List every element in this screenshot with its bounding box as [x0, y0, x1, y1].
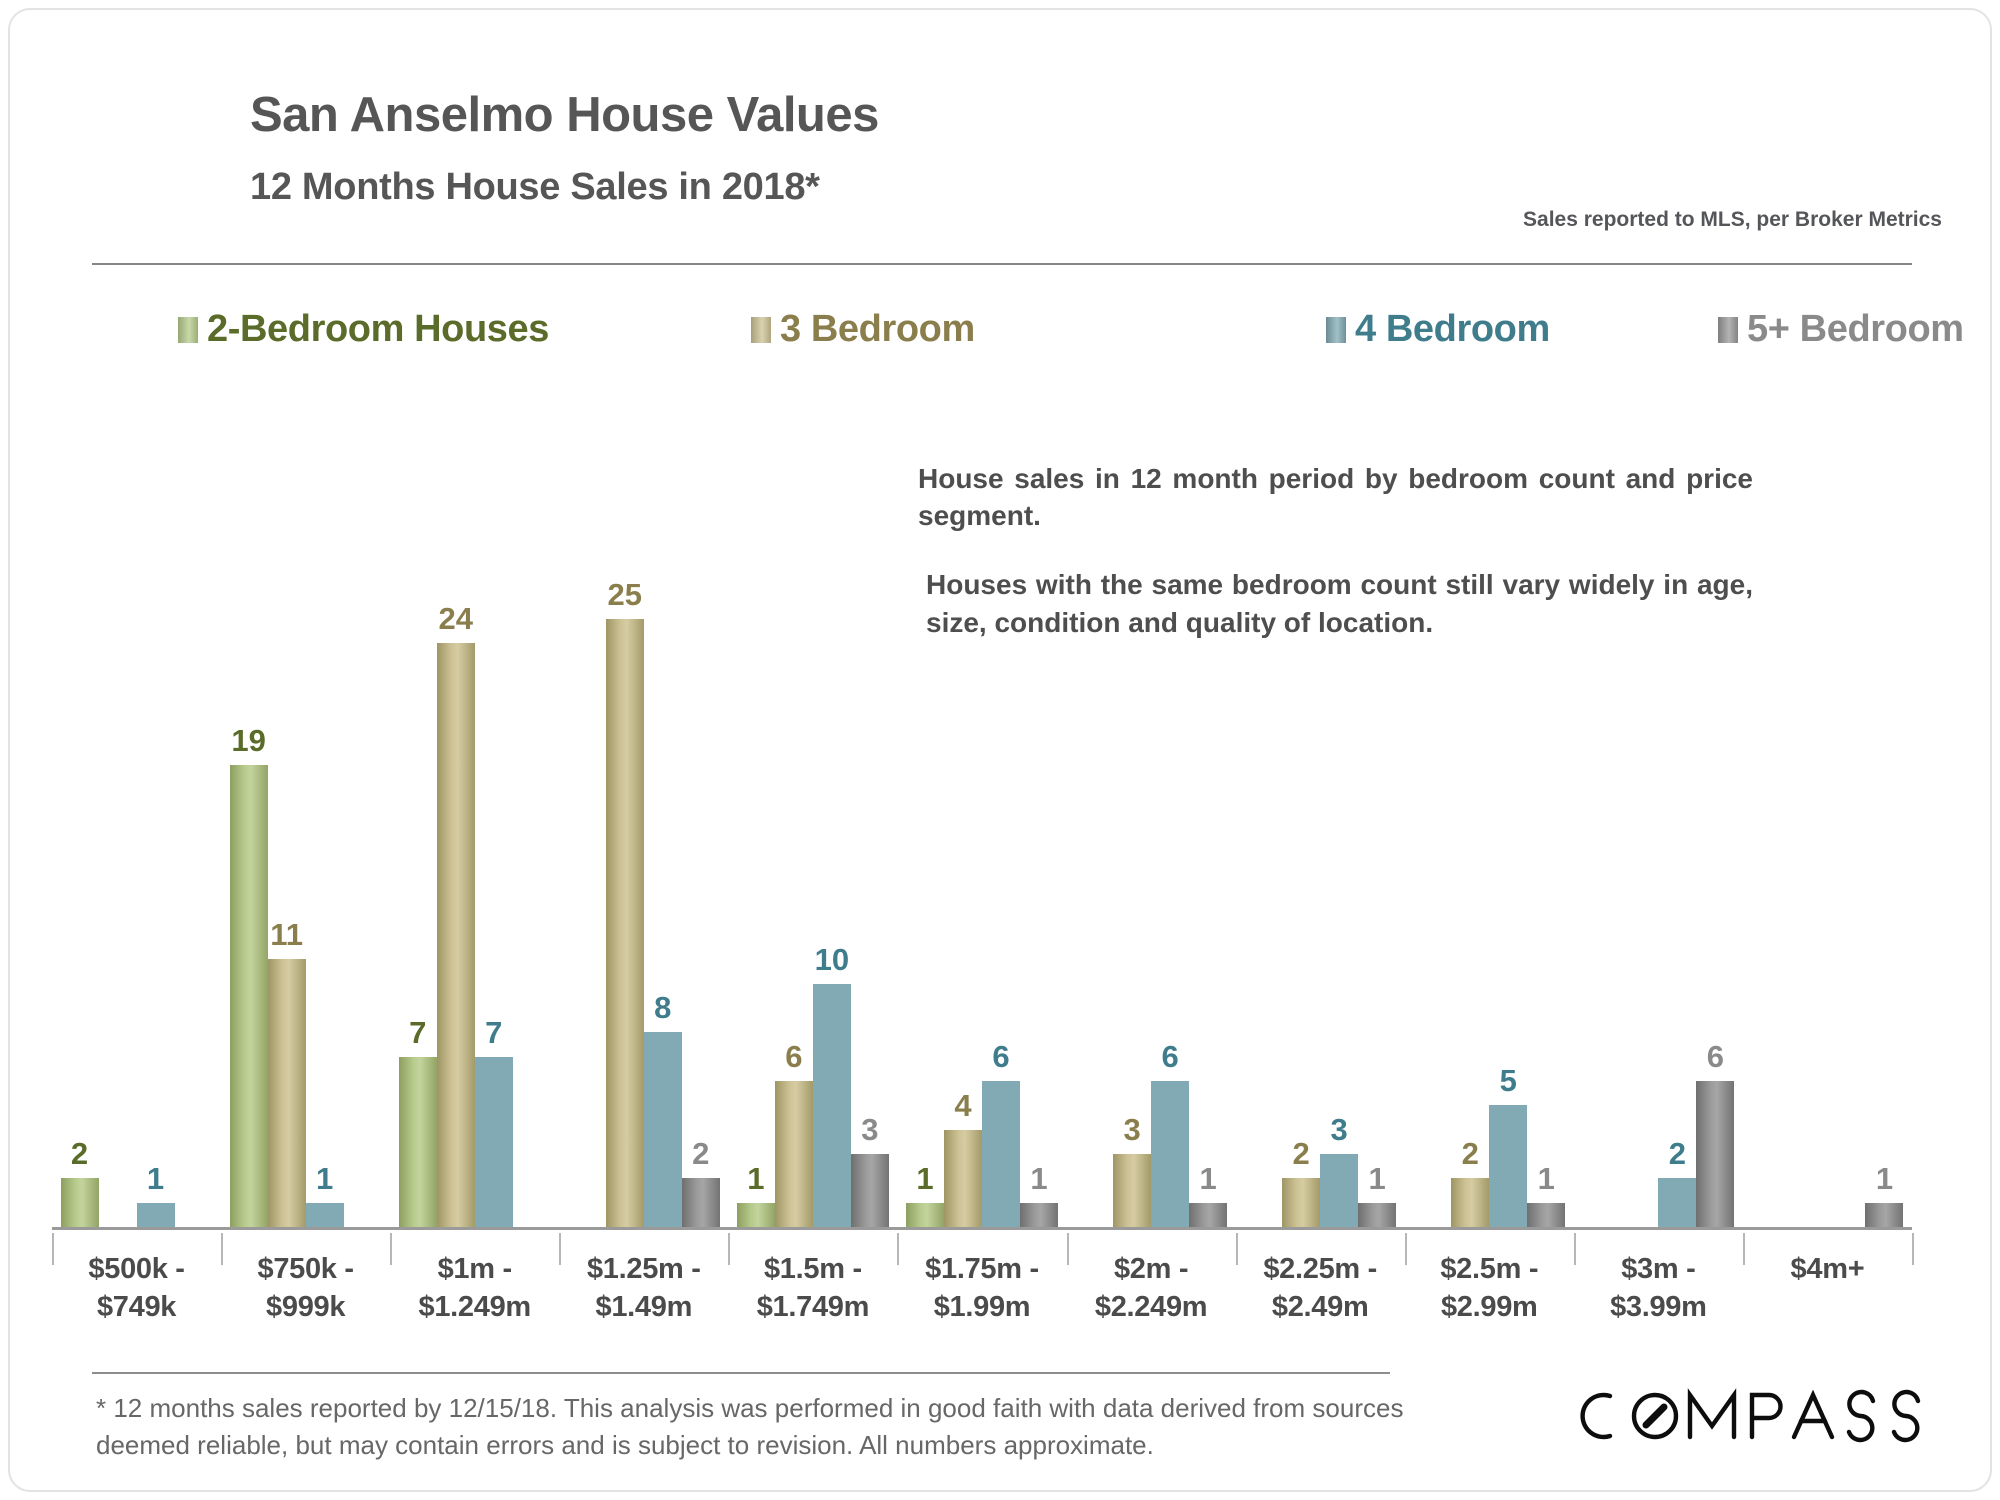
- bar-slot[interactable]: 1: [906, 467, 944, 1227]
- x-axis-label-line: $3.99m: [1574, 1289, 1743, 1327]
- bar[interactable]: [982, 1081, 1020, 1227]
- bar-slot[interactable]: 2: [1282, 467, 1320, 1227]
- bar-slot: [1751, 467, 1789, 1227]
- bar-value-label: 3: [1331, 1114, 1348, 1145]
- compass-logo-wordmark: [1570, 1382, 1930, 1450]
- bar-value-label: 8: [654, 992, 671, 1023]
- bar-value-label: 19: [231, 725, 265, 756]
- bar-slot[interactable]: 25: [606, 467, 644, 1227]
- bar[interactable]: [1020, 1203, 1058, 1227]
- bar[interactable]: [851, 1154, 889, 1227]
- bar-value-label: 1: [916, 1163, 933, 1194]
- x-axis-label-line: $500k -: [52, 1251, 221, 1289]
- plot-area: 211911172472582161031461361231251261: [52, 430, 1912, 1230]
- bar[interactable]: [399, 1057, 437, 1227]
- bar-slot: [1827, 467, 1865, 1227]
- x-axis-label-line: $750k -: [221, 1251, 390, 1289]
- bar-slot[interactable]: 4: [944, 467, 982, 1227]
- bar-value-label: 10: [815, 944, 849, 975]
- bar[interactable]: [682, 1178, 720, 1227]
- bar-value-label: 1: [1369, 1163, 1386, 1194]
- legend-item-2[interactable]: 3 Bedroom: [751, 308, 975, 351]
- bar[interactable]: [775, 1081, 813, 1227]
- bar-value-label: 1: [316, 1163, 333, 1194]
- bar-group: 361: [1067, 467, 1236, 1227]
- x-axis-label-line: $2.99m: [1405, 1289, 1574, 1327]
- bar-slot[interactable]: 2: [61, 467, 99, 1227]
- legend-item-1[interactable]: 2-Bedroom Houses: [178, 308, 549, 351]
- bar-slot[interactable]: 1: [1865, 467, 1903, 1227]
- bar-slot[interactable]: 11: [268, 467, 306, 1227]
- bar-slot[interactable]: 2: [1658, 467, 1696, 1227]
- x-axis-label-line: $2.49m: [1236, 1289, 1405, 1327]
- bar-value-label: 2: [1462, 1138, 1479, 1169]
- x-axis-label-line: $1.25m -: [559, 1251, 728, 1289]
- bar-slot[interactable]: 1: [1020, 467, 1058, 1227]
- chart-legend: 2-Bedroom Houses3 Bedroom4 Bedroom5+ Bed…: [178, 308, 1878, 362]
- x-axis-label-line: $2.249m: [1067, 1289, 1236, 1327]
- bar-chart: 211911172472582161031461361231251261: [52, 430, 1912, 1230]
- bar-value-label: 7: [485, 1017, 502, 1048]
- bar[interactable]: [606, 619, 644, 1227]
- bar[interactable]: [306, 1203, 344, 1227]
- legend-swatch-icon: [1718, 317, 1738, 343]
- bar[interactable]: [1358, 1203, 1396, 1227]
- legend-swatch-icon: [178, 317, 198, 343]
- bar-slot[interactable]: 6: [1696, 467, 1734, 1227]
- bar-value-label: 5: [1500, 1065, 1517, 1096]
- bar-slot[interactable]: 1: [1189, 467, 1227, 1227]
- x-axis-tick: [1912, 1233, 1914, 1265]
- legend-item-3[interactable]: 4 Bedroom: [1326, 308, 1550, 351]
- bar-slot[interactable]: 7: [399, 467, 437, 1227]
- bar-group: 231: [1236, 467, 1405, 1227]
- x-axis-label: $2.5m -$2.99m: [1405, 1251, 1574, 1326]
- bar-slot: [1620, 467, 1658, 1227]
- bar-slot[interactable]: 2: [1451, 467, 1489, 1227]
- bar-value-label: 2: [1293, 1138, 1310, 1169]
- bar[interactable]: [1527, 1203, 1565, 1227]
- x-axis-label-line: $1.5m -: [728, 1251, 897, 1289]
- bar-slot: [1413, 467, 1451, 1227]
- footnote: * 12 months sales reported by 12/15/18. …: [96, 1390, 1416, 1464]
- x-axis-label-line: $999k: [221, 1289, 390, 1327]
- bar[interactable]: [1113, 1154, 1151, 1227]
- bar[interactable]: [137, 1203, 175, 1227]
- bar-group: 26: [1574, 467, 1743, 1227]
- bar[interactable]: [1151, 1081, 1189, 1227]
- x-axis-label: $2.25m -$2.49m: [1236, 1251, 1405, 1326]
- page-title: San Anselmo House Values: [250, 90, 1910, 141]
- bar-slot[interactable]: 3: [851, 467, 889, 1227]
- bar-value-label: 4: [954, 1090, 971, 1121]
- bar-slot[interactable]: 2: [682, 467, 720, 1227]
- x-axis-label-line: $2.5m -: [1405, 1251, 1574, 1289]
- bar-value-label: 2: [692, 1138, 709, 1169]
- page-subtitle: 12 Months House Sales in 2018*: [250, 166, 1910, 209]
- bar-value-label: 1: [1538, 1163, 1555, 1194]
- bar-group: 16103: [728, 467, 897, 1227]
- bar-value-label: 6: [1161, 1041, 1178, 1072]
- slide: San Anselmo House Values 12 Months House…: [0, 0, 2000, 1500]
- bar-slot[interactable]: 3: [1320, 467, 1358, 1227]
- x-axis-label-line: $4m+: [1743, 1251, 1912, 1289]
- bar-value-label: 7: [409, 1017, 426, 1048]
- bar-slot[interactable]: 19: [230, 467, 268, 1227]
- bar-group: 1: [1743, 467, 1912, 1227]
- bar[interactable]: [813, 984, 851, 1227]
- x-axis-label-line: $1.75m -: [897, 1251, 1066, 1289]
- x-axis-label: $4m+: [1743, 1251, 1912, 1289]
- bar[interactable]: [230, 765, 268, 1227]
- bar-slot[interactable]: 1: [1358, 467, 1396, 1227]
- bar[interactable]: [644, 1032, 682, 1227]
- compass-logo: [1570, 1382, 1930, 1450]
- bar-group: 251: [1405, 467, 1574, 1227]
- bar-value-label: 2: [1669, 1138, 1686, 1169]
- bar[interactable]: [1282, 1178, 1320, 1227]
- x-axis-label-line: $1m -: [390, 1251, 559, 1289]
- bar-value-label: 3: [861, 1114, 878, 1145]
- bar-value-label: 6: [992, 1041, 1009, 1072]
- bar-slot: [175, 467, 213, 1227]
- bar-value-label: 6: [1707, 1041, 1724, 1072]
- bar-slot[interactable]: 7: [475, 467, 513, 1227]
- bar-value-label: 1: [147, 1163, 164, 1194]
- legend-item-label: 2-Bedroom Houses: [207, 308, 549, 351]
- bar-value-label: 1: [1199, 1163, 1216, 1194]
- bar-value-label: 1: [1030, 1163, 1047, 1194]
- bar-slot[interactable]: 5: [1489, 467, 1527, 1227]
- x-axis-label: $3m -$3.99m: [1574, 1251, 1743, 1326]
- bar-value-label: 1: [747, 1163, 764, 1194]
- bar-value-label: 24: [438, 603, 472, 634]
- legend-item-label: 4 Bedroom: [1355, 308, 1550, 351]
- bar[interactable]: [1320, 1154, 1358, 1227]
- bar-slot: [1789, 467, 1827, 1227]
- bar-slot[interactable]: 6: [1151, 467, 1189, 1227]
- x-axis-label: $1.75m -$1.99m: [897, 1251, 1066, 1326]
- bar-slot: [344, 467, 382, 1227]
- x-axis-label: $1.25m -$1.49m: [559, 1251, 728, 1326]
- bar[interactable]: [1658, 1178, 1696, 1227]
- bar[interactable]: [268, 959, 306, 1227]
- x-axis-label: $500k -$749k: [52, 1251, 221, 1326]
- x-axis-label-line: $1.249m: [390, 1289, 559, 1327]
- bar-slot[interactable]: 1: [1527, 467, 1565, 1227]
- bar[interactable]: [906, 1203, 944, 1227]
- attribution-text: Sales reported to MLS, per Broker Metric…: [1523, 208, 1942, 232]
- x-axis-label: $750k -$999k: [221, 1251, 390, 1326]
- bar-group: 7247: [390, 467, 559, 1227]
- bar[interactable]: [1696, 1081, 1734, 1227]
- x-axis-label: $1m -$1.249m: [390, 1251, 559, 1326]
- x-axis-label-line: $1.49m: [559, 1289, 728, 1327]
- bar[interactable]: [737, 1203, 775, 1227]
- bar[interactable]: [944, 1130, 982, 1227]
- bar-value-label: 25: [608, 579, 642, 610]
- bar-value-label: 2: [71, 1138, 88, 1169]
- bar-slot[interactable]: 10: [813, 467, 851, 1227]
- header: San Anselmo House Values 12 Months House…: [250, 90, 1910, 209]
- x-axis-label: $1.5m -$1.749m: [728, 1251, 897, 1326]
- bar-slot[interactable]: 6: [982, 467, 1020, 1227]
- legend-swatch-icon: [751, 317, 771, 343]
- bar-slot: [1582, 467, 1620, 1227]
- x-axis-label: $2m -$2.249m: [1067, 1251, 1236, 1326]
- legend-item-4[interactable]: 5+ Bedroom: [1718, 308, 1964, 351]
- bar-slot: [1244, 467, 1282, 1227]
- header-divider: [92, 263, 1912, 265]
- bar[interactable]: [1865, 1203, 1903, 1227]
- bar[interactable]: [437, 643, 475, 1227]
- bar[interactable]: [61, 1178, 99, 1227]
- bar-group: 19111: [221, 467, 390, 1227]
- page-title-city: San Anselmo: [250, 88, 553, 142]
- bar-slot: [1075, 467, 1113, 1227]
- bar-value-label: 3: [1123, 1114, 1140, 1145]
- x-axis-label-line: $749k: [52, 1289, 221, 1327]
- x-axis-label-line: $1.749m: [728, 1289, 897, 1327]
- bar-value-label: 1: [1876, 1163, 1893, 1194]
- bar-slot[interactable]: 8: [644, 467, 682, 1227]
- x-axis-line: [52, 1227, 1912, 1230]
- bar-slot[interactable]: 6: [775, 467, 813, 1227]
- page-title-rest: House Values: [553, 88, 879, 142]
- bar-slot[interactable]: 1: [137, 467, 175, 1227]
- bar-slot[interactable]: 1: [737, 467, 775, 1227]
- bar-slot[interactable]: 24: [437, 467, 475, 1227]
- x-axis-label-line: $1.99m: [897, 1289, 1066, 1327]
- legend-swatch-icon: [1326, 317, 1346, 343]
- bar-slot[interactable]: 1: [306, 467, 344, 1227]
- bar-slot: [99, 467, 137, 1227]
- bar-group: 1461: [897, 467, 1066, 1227]
- bar[interactable]: [1189, 1203, 1227, 1227]
- legend-item-label: 5+ Bedroom: [1747, 308, 1964, 351]
- bar-slot: [513, 467, 551, 1227]
- bar-group: 21: [52, 467, 221, 1227]
- x-axis-label-line: $3m -: [1574, 1251, 1743, 1289]
- bar-group: 2582: [559, 467, 728, 1227]
- x-axis-label-line: $2m -: [1067, 1251, 1236, 1289]
- x-axis-label-line: $2.25m -: [1236, 1251, 1405, 1289]
- bar[interactable]: [1489, 1105, 1527, 1227]
- bar-value-label: 6: [785, 1041, 802, 1072]
- x-axis-labels: $500k -$749k$750k -$999k$1m -$1.249m$1.2…: [52, 1233, 1912, 1358]
- bar[interactable]: [1451, 1178, 1489, 1227]
- footer-divider: [92, 1372, 1390, 1374]
- bar-value-label: 11: [270, 919, 303, 950]
- bar-slot[interactable]: 3: [1113, 467, 1151, 1227]
- bar[interactable]: [475, 1057, 513, 1227]
- bar-slot: [568, 467, 606, 1227]
- legend-item-label: 3 Bedroom: [780, 308, 975, 351]
